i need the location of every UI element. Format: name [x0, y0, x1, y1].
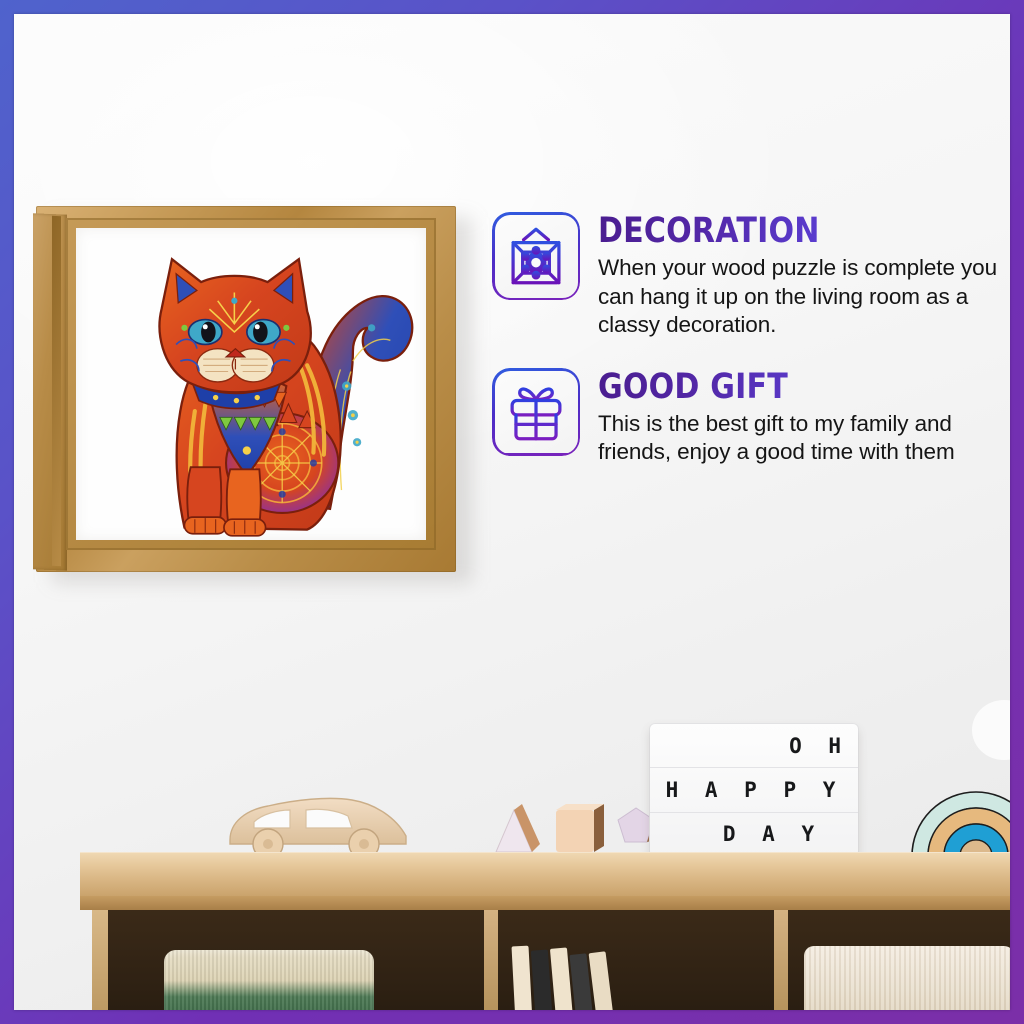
feature-decoration: DECORATION When your wood puzzle is comp… [492, 212, 1002, 340]
shelf-leg-left [92, 910, 108, 1010]
feature-title: GOOD GIFT [598, 370, 945, 405]
shelf-divider-1 [484, 910, 498, 1010]
puzzle-canvas [76, 228, 426, 540]
books [510, 942, 640, 1010]
lightbox-line-3: D A Y [650, 813, 858, 856]
wooden-toy-car [224, 788, 414, 860]
framed-artwork [36, 206, 456, 572]
feature-list: DECORATION When your wood puzzle is comp… [492, 212, 1002, 495]
feature-body: This is the best gift to my family and f… [598, 410, 1002, 467]
lightbox-line-1: O H [650, 724, 858, 768]
frame-groove [52, 216, 61, 566]
plush-toy [964, 696, 1010, 782]
shelf-divider-2 [774, 910, 788, 1010]
feature-good-gift: GOOD GIFT This is the best gift to my fa… [492, 368, 1002, 467]
feature-body: When your wood puzzle is complete you ca… [598, 254, 1002, 340]
frame-left-rail [33, 213, 67, 570]
feature-title: DECORATION [598, 214, 945, 249]
woven-basket-green [164, 950, 374, 1010]
woven-basket-cream [804, 946, 1010, 1010]
lightbox-sign: O H H A P P Y D A Y [650, 724, 858, 856]
framed-picture-icon [492, 212, 580, 300]
shelf-edge [80, 896, 1010, 910]
gift-box-icon [492, 368, 580, 456]
shelf-scene: O H H A P P Y D A Y [14, 710, 1010, 1010]
shelf-surface [80, 852, 1010, 896]
product-image: DECORATION When your wood puzzle is comp… [14, 14, 1010, 1010]
mandala-cat-artwork [76, 228, 426, 540]
lightbox-line-2: H A P P Y [650, 768, 858, 812]
